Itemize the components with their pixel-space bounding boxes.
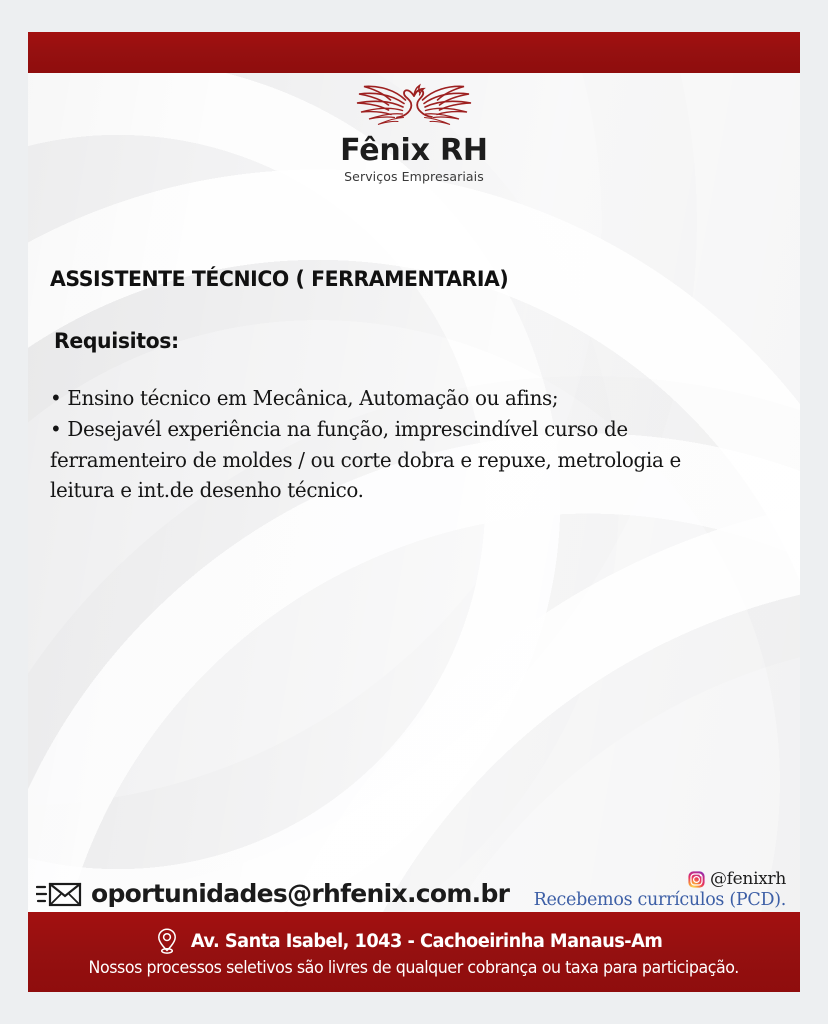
brand-tagline: Serviços Empresariais xyxy=(28,169,800,184)
logo-block: Fênix RH Serviços Empresariais xyxy=(28,82,800,184)
phoenix-bird-icon xyxy=(339,82,489,134)
requirements-heading: Requisitos: xyxy=(54,329,742,354)
brand-name: Fênix RH xyxy=(28,135,800,167)
top-red-bar xyxy=(28,32,800,73)
footer-bar: Av. Santa Isabel, 1043 - Cachoeirinha Ma… xyxy=(28,912,800,992)
email-address: oportunidades@rhfenix.com.br xyxy=(91,879,509,908)
post-content: ASSISTENTE TÉCNICO ( FERRAMENTARIA) Requ… xyxy=(28,267,800,506)
poster-stage: Fênix RH Serviços Empresariais ASSISTENT… xyxy=(0,0,828,1024)
requirements-list: • Ensino técnico em Mecânica, Automação … xyxy=(50,383,778,506)
location-pin-icon xyxy=(155,927,179,955)
address-text: Av. Santa Isabel, 1043 - Cachoeirinha Ma… xyxy=(191,931,662,952)
instagram-handle: @fenixrh xyxy=(710,869,786,889)
footer-disclaimer: Nossos processos seletivos são livres de… xyxy=(89,958,739,977)
social-block: @fenixrh Recebemos currículos (PCD). xyxy=(534,869,786,910)
poster-card: Fênix RH Serviços Empresariais ASSISTENT… xyxy=(28,32,800,992)
job-title: ASSISTENTE TÉCNICO ( FERRAMENTARIA) xyxy=(50,267,742,292)
instagram-row[interactable]: @fenixrh xyxy=(534,869,786,889)
requirement-line: leitura e int.de desenho técnico. xyxy=(50,475,756,506)
envelope-icon xyxy=(36,880,82,908)
requirement-line: ferramenteiro de moldes / ou corte dobra… xyxy=(50,445,756,476)
contact-strip: oportunidades@rhfenix.com.br xyxy=(28,840,800,912)
receive-resumes-note: Recebemos currículos (PCD). xyxy=(534,890,786,910)
requirement-line: • Ensino técnico em Mecânica, Automação … xyxy=(50,383,756,414)
email-row[interactable]: oportunidades@rhfenix.com.br xyxy=(36,879,509,908)
instagram-icon xyxy=(688,871,705,888)
address-row: Av. Santa Isabel, 1043 - Cachoeirinha Ma… xyxy=(155,927,672,955)
requirement-line: • Desejavél experiência na função, impre… xyxy=(50,414,756,445)
